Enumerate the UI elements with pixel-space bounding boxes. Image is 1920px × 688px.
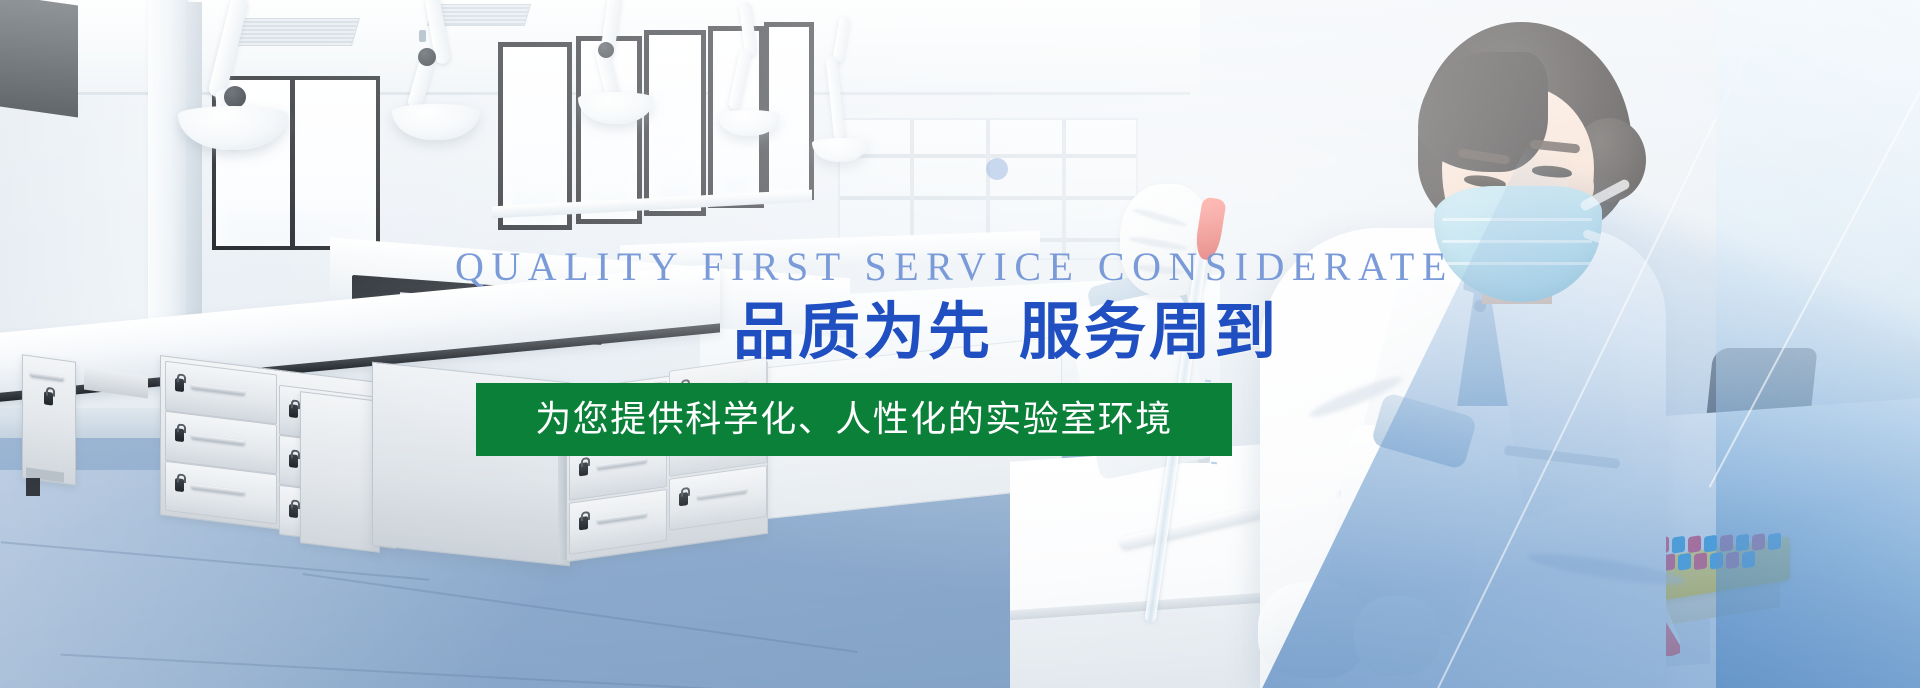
hero-banner: QUALITY FIRST SERVICE CONSIDERATE 品质为先服务… <box>0 0 1920 688</box>
headline-part-2: 服务周到 <box>1019 295 1279 368</box>
banner-subtitle-text: 为您提供科学化、人性化的实验室环境 <box>535 400 1173 440</box>
banner-headline: 品质为先服务周到 <box>733 296 1279 368</box>
banner-eyebrow-text: QUALITY FIRST SERVICE CONSIDERATE <box>455 246 1454 288</box>
headline-part-1: 品质为先 <box>733 295 993 368</box>
banner-subtitle-bar: 为您提供科学化、人性化的实验室环境 <box>476 383 1232 456</box>
banner-copy: QUALITY FIRST SERVICE CONSIDERATE 品质为先服务… <box>0 0 1920 688</box>
